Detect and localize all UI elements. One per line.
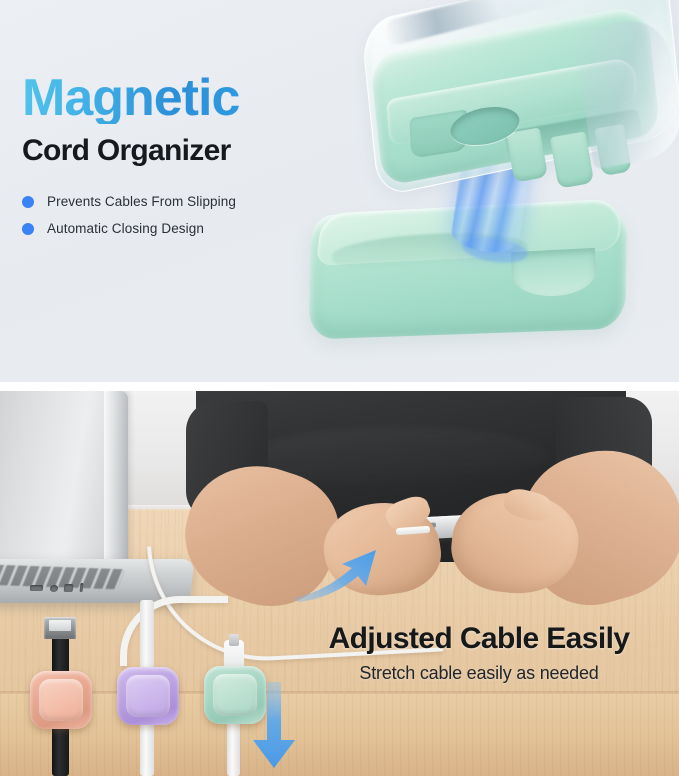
feature-bullet-list: Prevents Cables From Slipping Automatic … <box>22 194 322 236</box>
bullet-dot-icon <box>22 223 34 235</box>
bottom-caption-block: Adjusted Cable Easily Stretch cable easi… <box>286 622 672 684</box>
laptop-lid-edge <box>104 391 128 573</box>
lightning-connector-pin <box>229 634 239 646</box>
feature-bullet-item: Automatic Closing Design <box>22 221 322 236</box>
hdmi-connector-contacts <box>49 620 71 631</box>
scene-desk-front-panel <box>0 694 679 776</box>
product-render-magnetic-cord-organizer <box>282 0 679 382</box>
laptop-port <box>30 585 44 591</box>
bottom-caption-headline: Adjusted Cable Easily <box>286 622 672 656</box>
feature-bullet-label: Prevents Cables From Slipping <box>47 194 236 209</box>
bottom-caption-subtext: Stretch cable easily as needed <box>286 663 672 684</box>
bullet-dot-icon <box>22 196 34 208</box>
product-marketing-image: Magnetic Cord Organizer Prevents Cables … <box>0 0 679 776</box>
top-feature-panel: Magnetic Cord Organizer Prevents Cables … <box>0 0 679 382</box>
cable-clip-pink <box>30 671 92 729</box>
panel-divider <box>0 382 679 391</box>
headline-copy-block: Magnetic Cord Organizer Prevents Cables … <box>22 72 322 248</box>
feature-bullet-item: Prevents Cables From Slipping <box>22 194 322 209</box>
page-title-magnetic: Magnetic <box>22 72 322 124</box>
feature-bullet-label: Automatic Closing Design <box>47 221 204 236</box>
laptop-keyboard <box>0 565 125 590</box>
arrow-up-right-icon <box>292 548 382 602</box>
cable-clip-purple-inner <box>126 675 170 717</box>
page-subtitle-cord-organizer: Cord Organizer <box>22 134 322 168</box>
arrow-down-icon <box>252 682 296 768</box>
cable-clip-purple <box>117 667 179 725</box>
cable-clip-pink-inner <box>39 679 83 721</box>
cable-clip-mint-inner <box>213 674 257 716</box>
laptop-port <box>64 584 74 592</box>
